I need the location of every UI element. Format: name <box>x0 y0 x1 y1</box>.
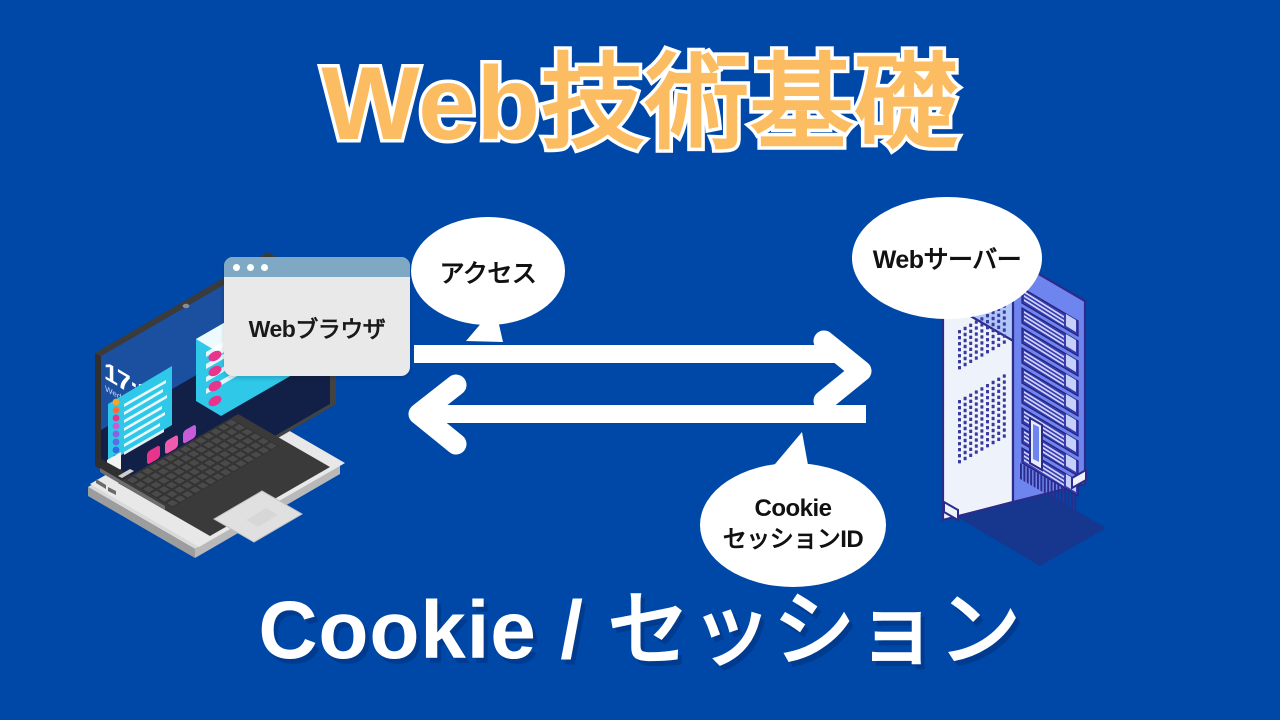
page-caption: Cookie / セッション <box>0 586 1280 676</box>
bubble-access-line-1: アクセス <box>440 254 537 290</box>
bubble-cookie-label: Cookie セッションID <box>700 470 886 580</box>
bubble-server-line-1: Webサーバー <box>873 240 1022 276</box>
bubble-access-label: アクセス <box>412 229 564 315</box>
bubble-cookie-line-2: セッションID <box>723 525 864 556</box>
bubble-server-label: Webサーバー <box>852 203 1042 313</box>
slide-root: Web技術基礎 <box>0 0 1280 720</box>
bubble-cookie-line-1: Cookie <box>754 494 831 525</box>
